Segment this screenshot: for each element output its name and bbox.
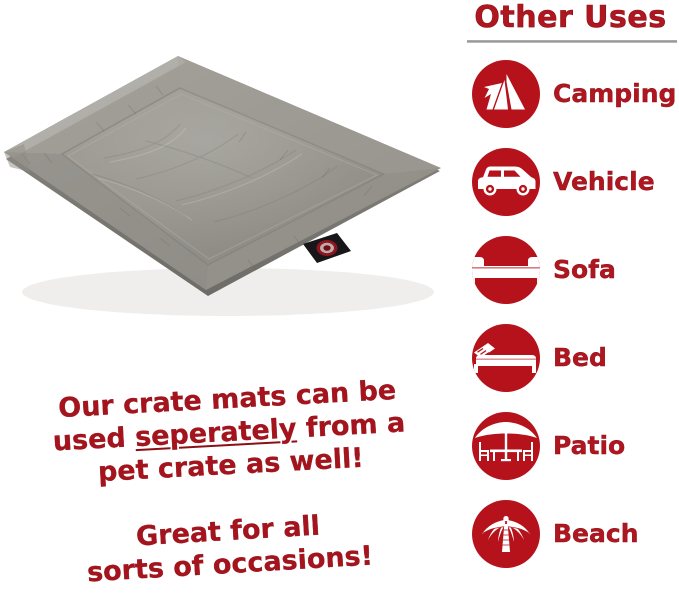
palm-tree-icon [472,500,540,568]
use-label-vehicle: Vehicle [553,168,655,196]
car-icon [472,148,540,216]
use-label-beach: Beach [553,520,639,548]
patio-badge [472,412,540,480]
use-row-patio: Patio [472,410,679,482]
tent-icon [472,60,540,128]
product-image [0,46,452,351]
other-uses-panel: Other Uses Camping [462,0,679,593]
use-row-beach: Beach [472,498,679,570]
copy-line-2-prefix: used [52,422,136,457]
bed-icon [472,324,540,392]
crate-mat-illustration [0,46,452,351]
use-row-sofa: Sofa [472,234,679,306]
use-row-vehicle: Vehicle [472,146,679,218]
copy-block-separately: Our crate mats can be used seperately fr… [22,372,437,493]
title-divider [467,40,677,43]
sofa-badge [472,236,540,304]
copy-line-2-suffix: from a [296,407,406,444]
patio-umbrella-table-icon [472,412,540,480]
camping-badge [472,60,540,128]
copy-block-occasions: Great for all sorts of occasions! [42,504,415,592]
use-row-bed: Bed [472,322,679,394]
vehicle-badge [472,148,540,216]
use-row-camping: Camping [472,58,679,130]
sofa-icon [472,236,540,304]
beach-badge [472,500,540,568]
use-label-patio: Patio [553,432,625,460]
use-label-camping: Camping [553,80,676,108]
use-label-sofa: Sofa [553,256,616,284]
other-uses-title: Other Uses [462,0,679,36]
use-label-bed: Bed [553,344,607,372]
bed-badge [472,324,540,392]
